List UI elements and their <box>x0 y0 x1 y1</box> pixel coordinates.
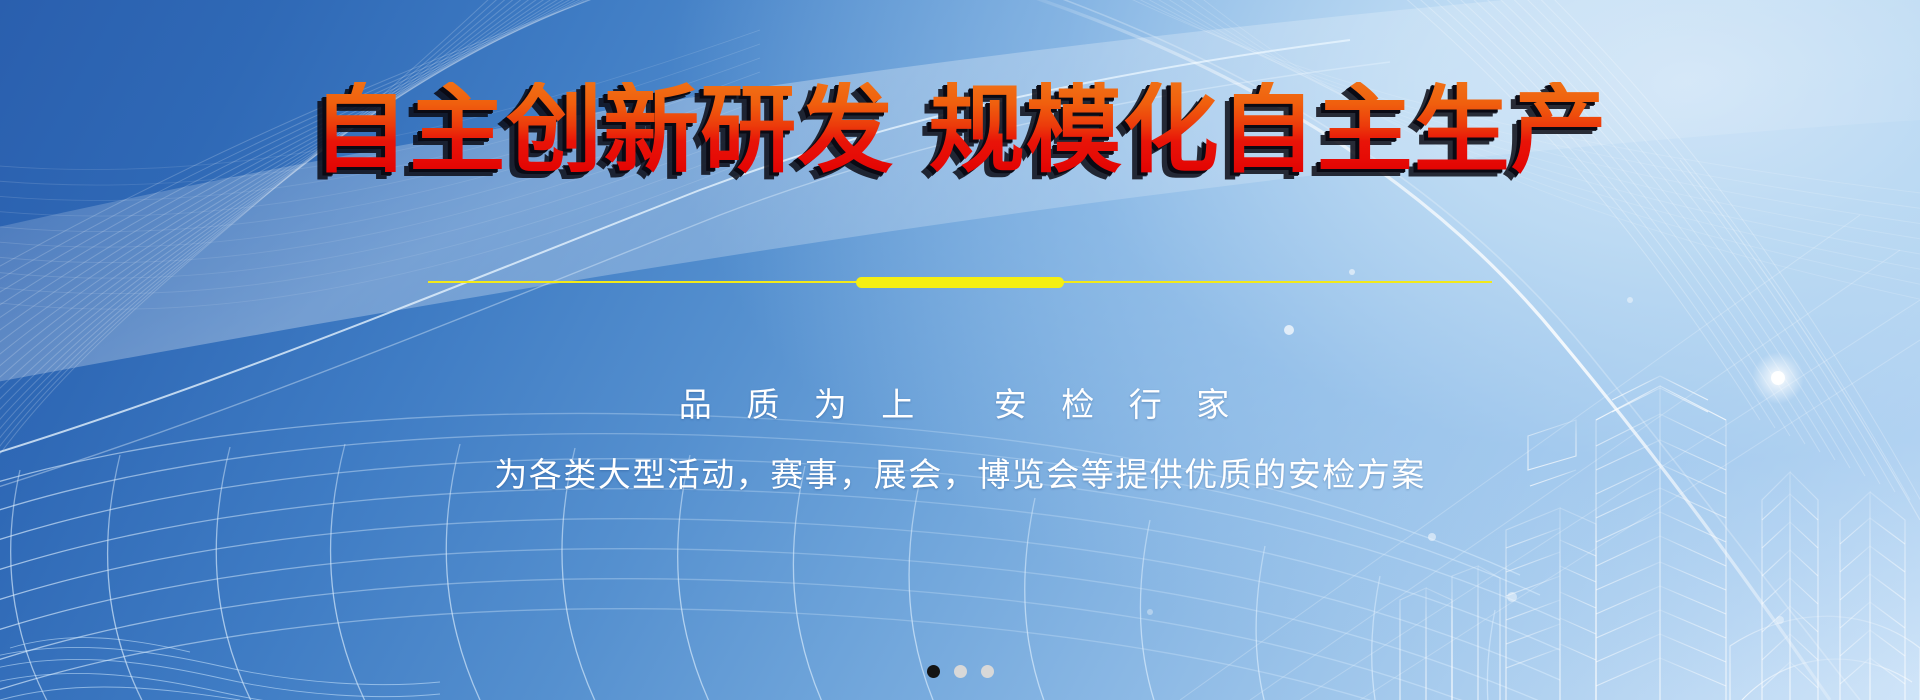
yellow-divider <box>428 276 1492 288</box>
carousel-dots[interactable] <box>0 665 1920 678</box>
subtitle-primary: 品 质 为 上 安 检 行 家 <box>0 382 1920 428</box>
divider-center-pill <box>856 277 1064 288</box>
headline-container: 自主创新研发 规模化自主生产 <box>0 82 1920 178</box>
light-band <box>0 0 1920 400</box>
carousel-dot-2[interactable] <box>954 665 967 678</box>
hero-banner: 自主创新研发 规模化自主生产 品 质 为 上 安 检 行 家 为各类大型活动，赛… <box>0 0 1920 700</box>
carousel-dot-1[interactable] <box>927 665 940 678</box>
subtitle-container: 品 质 为 上 安 检 行 家 为各类大型活动，赛事，展会，博览会等提供优质的安… <box>0 382 1920 498</box>
carousel-dot-3[interactable] <box>981 665 994 678</box>
banner-headline: 自主创新研发 规模化自主生产 <box>312 82 1607 178</box>
subtitle-secondary: 为各类大型活动，赛事，展会，博览会等提供优质的安检方案 <box>0 452 1920 498</box>
